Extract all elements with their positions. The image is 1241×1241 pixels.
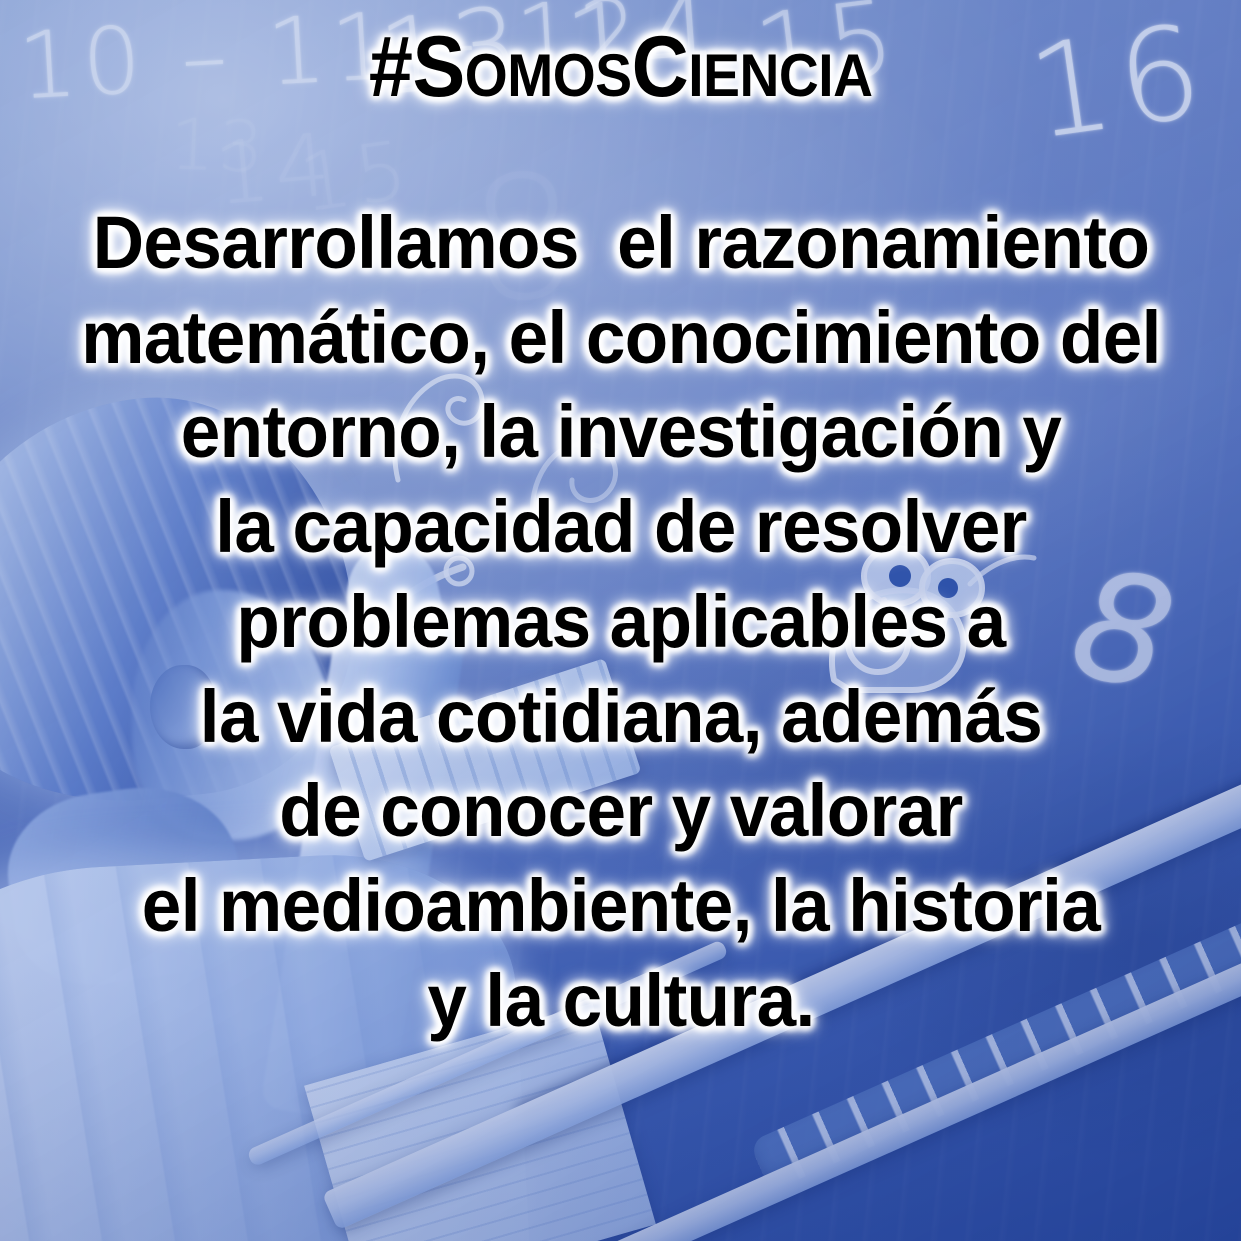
body-line: la vida cotidiana, además bbox=[64, 670, 1178, 765]
text-overlay: #SomosCiencia Desarrollamos el razonamie… bbox=[0, 0, 1241, 1241]
body-line: y la cultura. bbox=[64, 954, 1178, 1049]
page-title: #SomosCiencia bbox=[369, 24, 873, 110]
body-line: el medioambiente, la historia bbox=[64, 859, 1178, 954]
body-line: entorno, la investigación y bbox=[64, 385, 1178, 480]
body-line: la capacidad de resolver bbox=[64, 480, 1178, 575]
body-line: matemático, el conocimiento del bbox=[64, 291, 1178, 386]
poster-canvas: 13 14 15 8 10 – 11 – 12 13 14 15 16 8 bbox=[0, 0, 1241, 1241]
body-line: de conocer y valorar bbox=[64, 764, 1178, 859]
body-line: Desarrollamos el razonamiento bbox=[64, 196, 1178, 291]
body-paragraph: Desarrollamos el razonamiento matemático… bbox=[41, 196, 1201, 1048]
body-line: problemas aplicables a bbox=[64, 575, 1178, 670]
